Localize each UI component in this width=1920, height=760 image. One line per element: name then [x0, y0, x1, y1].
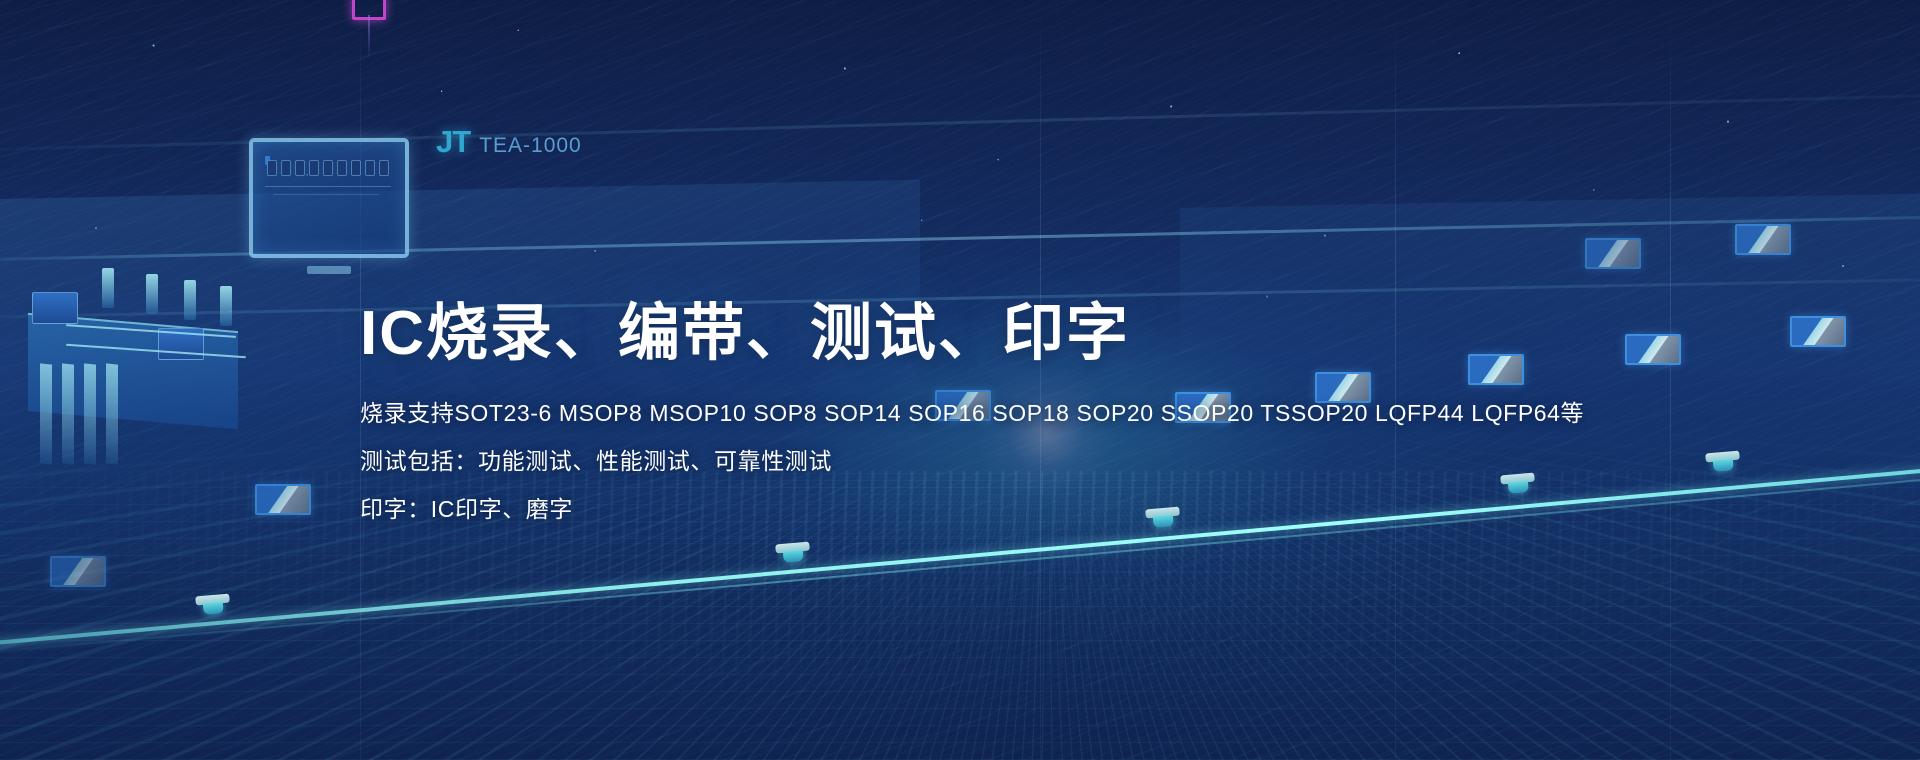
machine-post: [146, 274, 158, 314]
pillar-far-right: [1670, 0, 1671, 760]
rail-cart-icon: [769, 541, 817, 565]
machine-fin: [40, 363, 52, 464]
tray-icon: [50, 556, 106, 587]
marker-icon: [352, 0, 386, 20]
service-line-burning: 烧录支持SOT23-6 MSOP8 MSOP10 SOP8 SOP14 SOP1…: [360, 402, 1660, 425]
monitor-stand: [307, 266, 351, 274]
page-title: IC烧录、编带、测试、印字: [360, 300, 1660, 368]
equipment-brand-label: JT TEA-1000: [436, 124, 582, 160]
tray-icon: [255, 484, 311, 515]
tray-icon: [1790, 316, 1846, 347]
service-line-marking: 印字：IC印字、磨字: [360, 498, 1660, 521]
monitor-icon: [249, 138, 409, 258]
tray-icon: [1735, 224, 1791, 255]
machine-post: [184, 280, 196, 320]
machine-module: [32, 292, 78, 324]
machine-icon: [6, 268, 266, 468]
monitor-screen: [249, 138, 409, 258]
monitor-line-1: [265, 186, 391, 187]
machine-post: [220, 286, 232, 326]
machine-post: [102, 268, 114, 308]
tray-icon: [1585, 238, 1641, 269]
monitor-line-2: [273, 194, 379, 195]
monitor-chip-row: [267, 160, 389, 176]
service-line-testing: 测试包括：功能测试、性能测试、可靠性测试: [360, 450, 1660, 473]
machine-fin: [106, 363, 118, 464]
banner-content: IC烧录、编带、测试、印字 烧录支持SOT23-6 MSOP8 MSOP10 S…: [360, 300, 1660, 521]
service-detail-list: 烧录支持SOT23-6 MSOP8 MSOP10 SOP8 SOP14 SOP1…: [360, 402, 1660, 521]
rail-cart-icon: [1699, 450, 1747, 474]
brand-mark: JT: [436, 124, 470, 160]
hero-banner: JT TEA-1000 IC烧录、编带、测试、印字 烧录支持SOT23-6: [0, 0, 1920, 760]
machine-fin: [84, 363, 96, 464]
machine-fin: [62, 363, 74, 464]
rail-cart-icon: [189, 593, 237, 617]
equipment-model: TEA-1000: [479, 134, 582, 158]
